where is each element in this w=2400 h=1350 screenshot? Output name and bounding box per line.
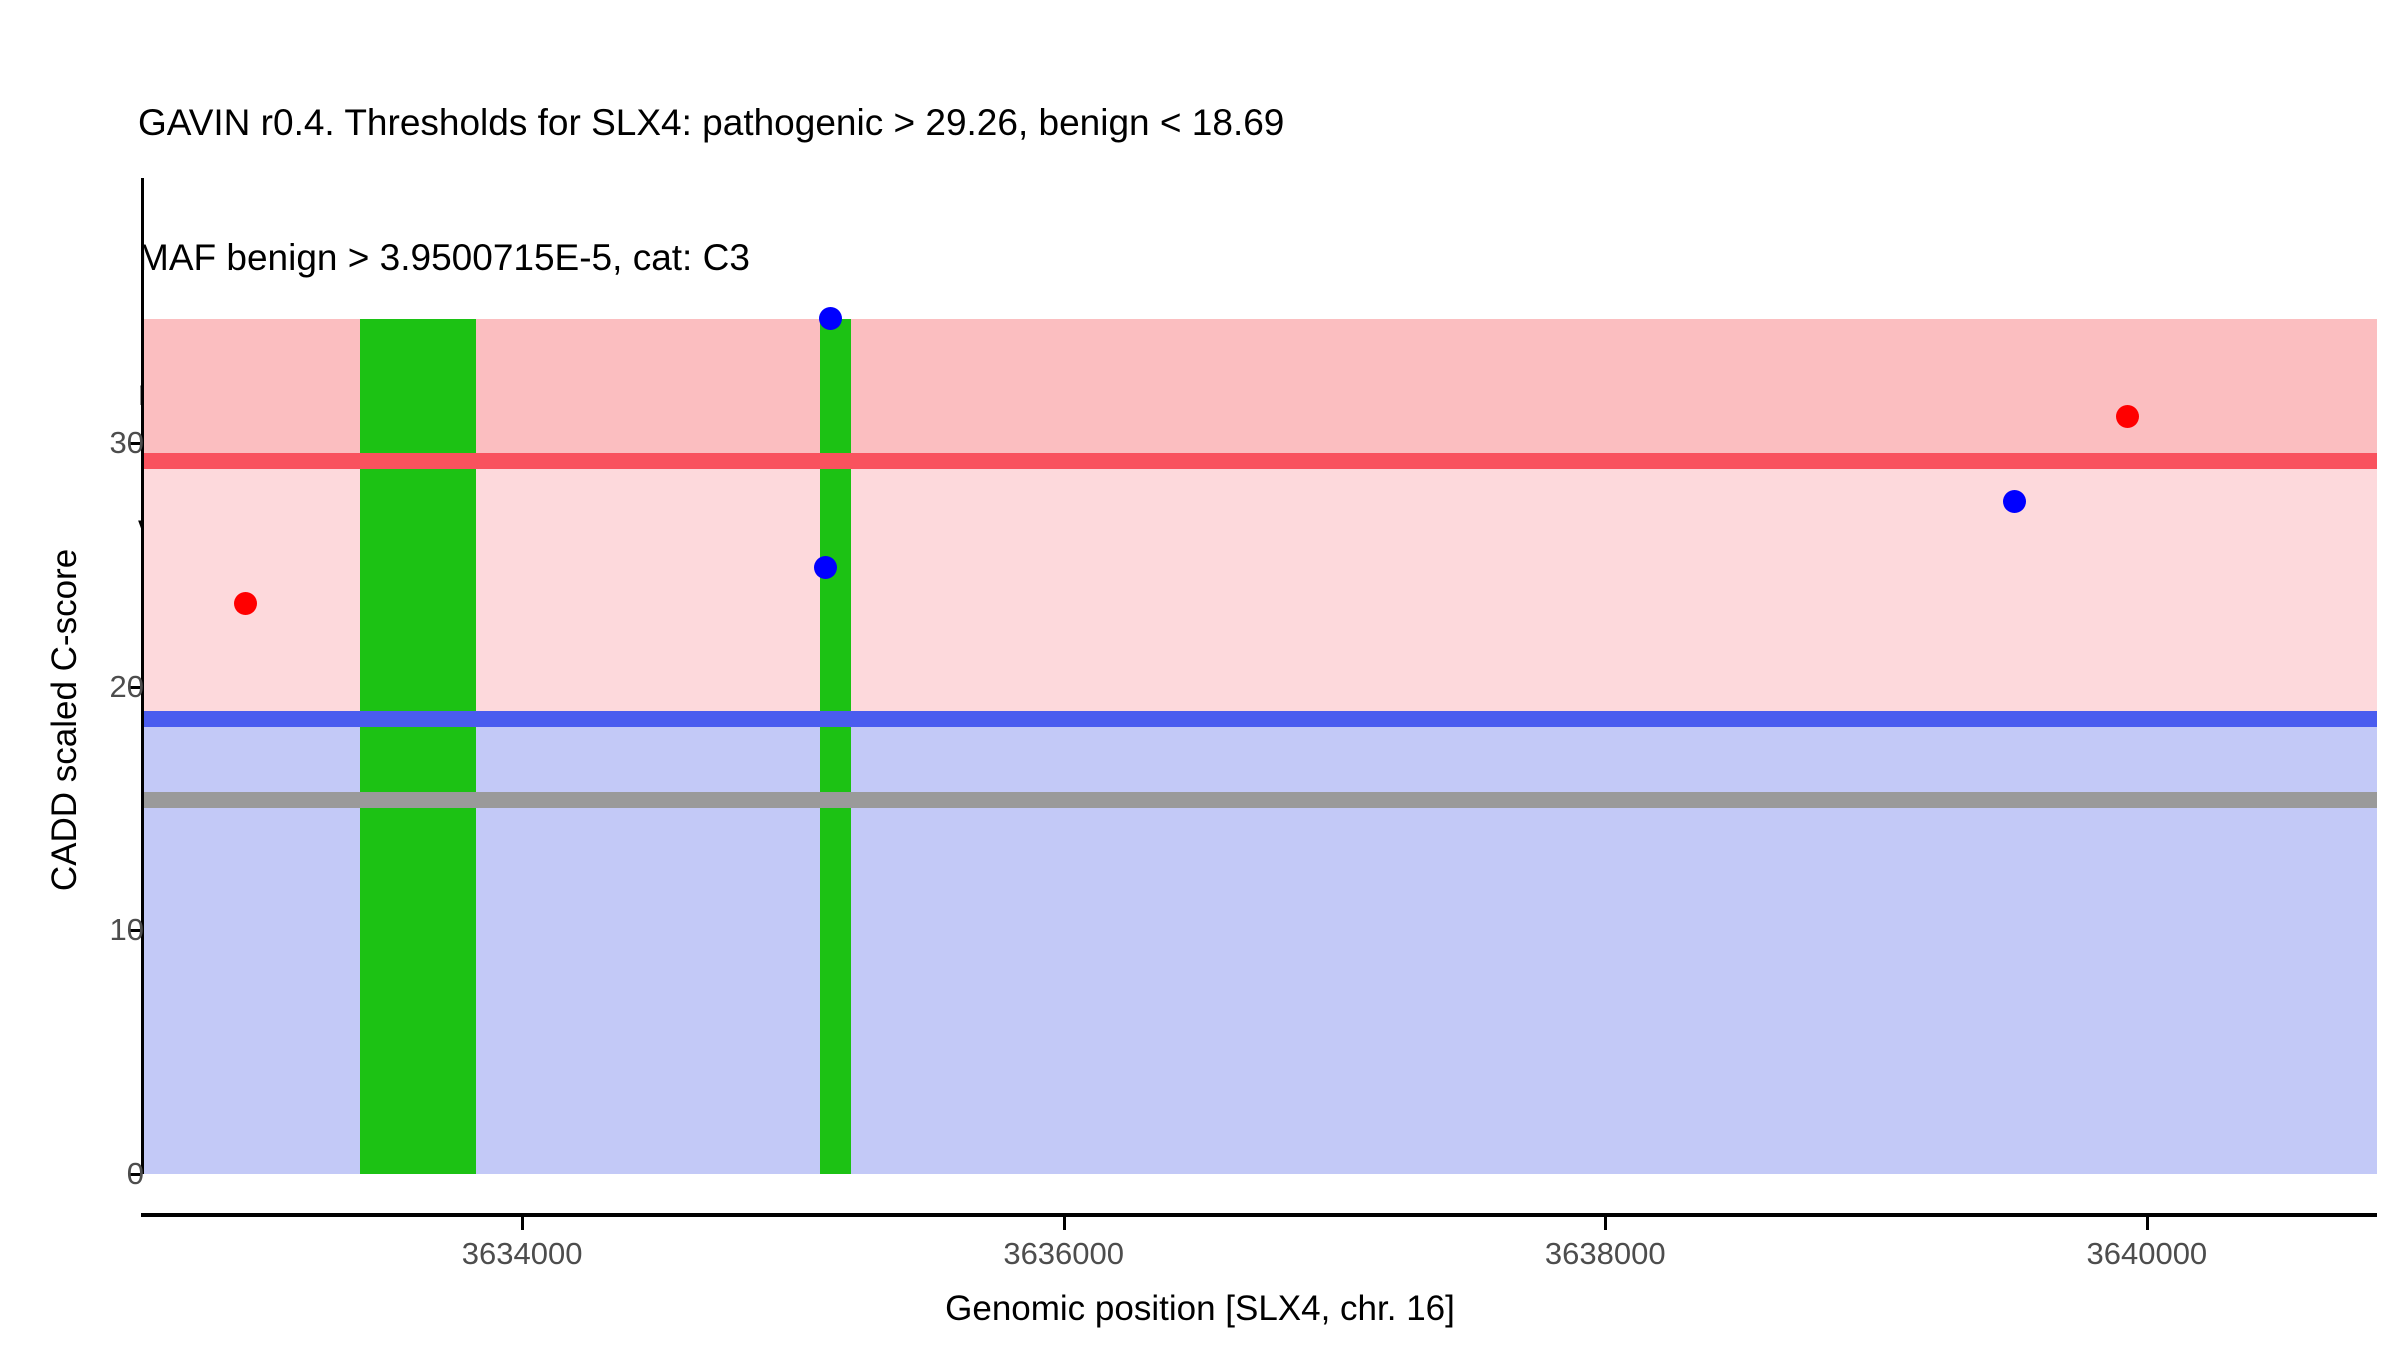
band-benign-band	[143, 719, 2377, 1174]
x-tick-mark	[1604, 1217, 1607, 1230]
threshold-line-genome-wide-fallback-threshold	[143, 792, 2377, 808]
x-axis-line	[141, 1213, 2377, 1217]
y-axis-title: CADD scaled C-score	[45, 320, 85, 1120]
y-tick-label: 20	[110, 669, 144, 705]
x-tick-label: 3636000	[1003, 1236, 1124, 1272]
threshold-line-pathogenic-threshold	[143, 453, 2377, 469]
x-tick-label: 3638000	[1545, 1236, 1666, 1272]
title-line-2: MAF benign > 3.9500715E-5, cat: C3	[138, 235, 2238, 280]
x-tick-label: 3640000	[2086, 1236, 2207, 1272]
plot-panel	[143, 280, 2377, 1174]
x-axis-title: Genomic position [SLX4, chr. 16]	[0, 1289, 2400, 1329]
y-tick-label: 30	[110, 425, 144, 461]
band-ambiguous-band	[143, 461, 2377, 718]
x-tick-mark	[2146, 1217, 2149, 1230]
threshold-line-benign-threshold	[143, 711, 2377, 727]
data-point-blue	[814, 556, 837, 579]
data-point-blue	[2003, 490, 2026, 513]
y-tick-label: 10	[110, 912, 144, 948]
cadd-plot-figure: GAVIN r0.4. Thresholds for SLX4: pathoge…	[0, 0, 2400, 1350]
exon-rect	[820, 319, 851, 1174]
title-line-1: GAVIN r0.4. Thresholds for SLX4: pathoge…	[138, 100, 2238, 145]
exon-rect	[360, 319, 476, 1174]
x-tick-mark	[1063, 1217, 1066, 1230]
band-pathogenic-band	[143, 319, 2377, 461]
x-tick-mark	[521, 1217, 524, 1230]
y-tick-label: 0	[127, 1156, 144, 1192]
x-tick-label: 3634000	[462, 1236, 583, 1272]
